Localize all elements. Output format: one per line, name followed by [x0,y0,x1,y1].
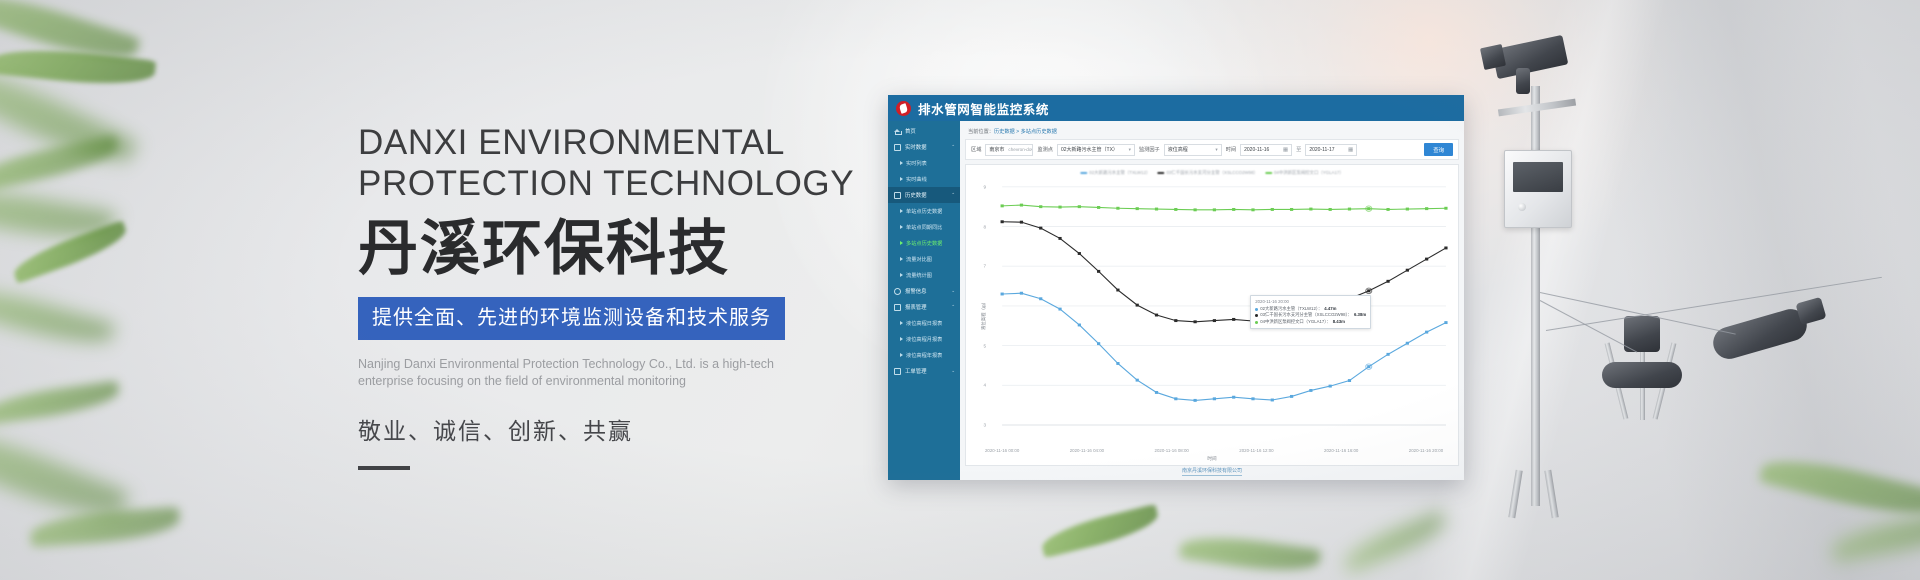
tooltip-series-dot [1255,321,1258,324]
cabinet-display-panel [1513,162,1563,192]
breadcrumb: 当前位置：历史数据 > 多站点历史数据 [965,125,1459,139]
chart-y-tick-label: 9 [976,184,986,189]
hero-chinese-title: 丹溪环保科技 [358,216,898,282]
hero-slogan-bar: 提供全面、先进的环境监测设备和技术服务 [358,297,785,340]
sidebar-item-flow-statistics-chart[interactable]: 流量统计图 [888,267,960,283]
leaf-decoration [0,380,121,425]
hero-chinese-slogan: 敬业、诚信、创新、共赢 [358,412,898,446]
sidebar-item-single-station-yoy[interactable]: 单站点同期同比 [888,219,960,235]
sidebar-item-label: 实时数据 [905,143,927,151]
chevron-down-icon: ⌄ [951,288,955,294]
sidebar-group-report-management[interactable]: 报表管理 ⌃ [888,299,960,315]
sidebar-item-label: 流量统计图 [906,272,932,279]
chart-y-tick-label: 5 [976,343,986,348]
sidebar-item-label: 报表管理 [905,303,927,311]
chart-y-tick-label: 8 [976,224,986,229]
region-value: 南京市 [989,146,1004,153]
hero-text-block: DANXI ENVIRONMENTAL PROTECTION TECHNOLOG… [358,122,898,470]
calendar-icon: ▦ [1279,147,1288,153]
leaf-decoration [29,507,181,547]
region-label: 区域 [971,146,981,153]
sidebar-item-realtime-curve[interactable]: 实时曲线 [888,171,960,187]
chart-x-axis-title: 时间 [1207,456,1216,462]
chart-tooltip: 2020-11-16 20:0002大新路污水主管（TXLW12）：4.47m0… [1250,295,1371,330]
tooltip-timestamp: 2020-11-16 20:00 [1255,299,1366,305]
sidebar-item-label: 历史数据 [905,191,927,199]
breadcrumb-path: 历史数据 > 多站点历史数据 [994,129,1057,135]
query-button[interactable]: 查询 [1424,143,1453,156]
bell-icon [894,288,901,295]
footer-company-name: 南京丹溪环保科技有限公司 [1182,468,1242,476]
tooltip-series-name: 04中洪新区泵阀控文口（YGLA17）： [1260,319,1330,325]
tooltip-row: 04中洪新区泵阀控文口（YGLA17）：8.43m [1255,319,1366,325]
sidebar-item-yearly-level-report[interactable]: 液位高程年报表 [888,347,960,363]
shield-logo-icon [896,101,911,116]
sidebar-item-multi-station-history[interactable]: 多站点历史数据 [888,235,960,251]
sensor-probe-body [1602,362,1682,388]
chart-x-tick-label: 2020-11-16 08:00 [1155,448,1189,453]
sidebar-item-realtime-list[interactable]: 实时列表 [888,155,960,171]
monitoring-factor-select[interactable]: 液位高程 ▾ [1164,144,1222,156]
point-label: 监测点 [1037,146,1053,153]
chevron-right-icon [900,209,903,213]
sidebar-item-label: 多站点历史数据 [906,240,942,247]
sidebar-item-label: 液位高程月报表 [906,336,942,343]
chevron-right-icon [900,273,903,277]
order-icon [894,368,901,375]
sidebar-item-label: 单站点同期同比 [906,224,942,231]
app-footer: 南京丹溪环保科技有限公司 [965,466,1459,480]
sidebar: 首页 实时数据 ⌃ 实时列表 实时曲线 历史数据 [888,121,960,480]
chevron-right-icon [900,241,903,245]
chart-y-tick-label: 3 [976,423,986,428]
sidebar-item-label: 报警信息 [905,287,927,295]
chart-x-tick-label: 2020-11-16 16:00 [1324,448,1358,453]
calendar-icon: ▦ [1344,147,1353,153]
chevron-down-icon: ▾ [1211,147,1217,153]
chevron-down-icon: chevron-down-icon [1004,147,1033,152]
tooltip-series-value: 8.43m [1333,319,1345,325]
hero-english-title-line2: PROTECTION TECHNOLOGY [358,163,898,204]
factor-value: 液位高程 [1168,146,1188,153]
breadcrumb-label: 当前位置： [968,129,994,135]
start-date-value: 2020-11-16 [1244,147,1269,153]
chart-icon [894,192,901,199]
app-header: 排水管网智能监控系统 [888,95,1464,121]
sidebar-group-realtime-data[interactable]: 实时数据 ⌃ [888,139,960,155]
hero-english-title-line1: DANXI ENVIRONMENTAL [358,122,898,163]
sidebar-item-label: 液位高程年报表 [906,352,942,359]
region-select[interactable]: 南京市 chevron-down-icon [985,144,1033,156]
report-icon [894,304,901,311]
sidebar-item-label: 流量对比图 [906,256,932,263]
sidebar-item-label: 液位高程日报表 [906,320,942,327]
chart-x-tick-label: 2020-11-16 12:00 [1239,448,1273,453]
sidebar-item-label: 工单管理 [905,367,927,375]
chevron-right-icon [900,353,903,357]
tooltip-series-dot [1255,308,1258,311]
hero-banner: DANXI ENVIRONMENTAL PROTECTION TECHNOLOG… [0,0,1920,580]
tooltip-series-dot [1255,314,1258,317]
sidebar-item-label: 首页 [905,127,916,135]
app-title: 排水管网智能监控系统 [918,99,1049,118]
hero-english-description: Nanjing Danxi Environmental Protection T… [358,356,828,390]
filter-toolbar: 区域 南京市 chevron-down-icon 监测点 02大新路污水主管（T… [965,139,1459,160]
chevron-right-icon [900,257,903,261]
chevron-right-icon [900,225,903,229]
start-date-input[interactable]: 2020-11-16 ▦ [1240,144,1292,156]
point-value: 02大新路污水主管（TX） [1061,146,1118,153]
chevron-up-icon: ⌃ [951,144,955,150]
leaf-decoration [0,277,116,355]
monitor-icon [894,144,901,151]
chart-plot-area: 液位高程（m） 9876543 2020-11-16 00:002020-11-… [966,165,1458,465]
camera-pole [1531,86,1540,506]
chart-y-tick-label: 4 [976,383,986,388]
end-date-value: 2020-11-17 [1309,147,1334,153]
sidebar-item-label: 实时列表 [906,160,927,167]
chart-y-tick-label: 6 [976,303,986,308]
leaf-decoration [1039,504,1162,558]
chevron-up-icon: ⌃ [951,304,955,310]
chart-card: 02大新路污水主管（TXLW12）03仁千国长污水支河分主管（XSLCCO2W9… [965,164,1459,466]
app-body: 首页 实时数据 ⌃ 实时列表 实时曲线 历史数据 [888,121,1464,480]
sidebar-group-alarm-info[interactable]: 报警信息 ⌄ [888,283,960,299]
monitoring-point-select[interactable]: 02大新路污水主管（TX） ▾ [1057,144,1135,156]
monitoring-system-screenshot: 排水管网智能监控系统 首页 实时数据 ⌃ 实时列表 [888,95,1464,480]
home-icon [894,128,901,135]
cabinet-indicator-light [1518,203,1526,211]
chevron-down-icon: ▾ [1125,147,1131,153]
sidebar-item-single-station-history[interactable]: 单站点历史数据 [888,203,960,219]
sidebar-group-work-order[interactable]: 工单管理 ⌄ [888,363,960,379]
chevron-right-icon [900,177,903,181]
sidebar-item-home[interactable]: 首页 [888,123,960,139]
chevron-right-icon [900,337,903,341]
sidebar-item-flow-comparison-chart[interactable]: 流量对比图 [888,251,960,267]
sidebar-item-label: 单站点历史数据 [906,208,942,215]
end-date-input[interactable]: 2020-11-17 ▦ [1305,144,1357,156]
tooltip-series-value: 6.38m [1354,312,1366,318]
camera-lens-hood [1480,44,1506,70]
footer-company-link[interactable]: 南京丹溪环保科技有限公司 [965,467,1459,474]
chevron-right-icon [900,161,903,165]
sidebar-item-daily-level-report[interactable]: 液位高程日报表 [888,315,960,331]
chevron-down-icon: ⌄ [951,368,955,374]
chart-svg [966,165,1458,465]
date-separator: 至 [1296,146,1301,153]
chart-x-tick-label: 2020-11-16 00:00 [985,448,1019,453]
time-label: 时间 [1226,146,1236,153]
chart-y-tick-label: 7 [976,264,986,269]
camera-mount-bracket [1516,68,1530,94]
sidebar-item-label: 实时曲线 [906,176,927,183]
sidebar-group-history-data[interactable]: 历史数据 ⌃ [888,187,960,203]
sidebar-item-monthly-level-report[interactable]: 液位高程月报表 [888,331,960,347]
hero-divider-rule [358,466,410,470]
chevron-right-icon [900,321,903,325]
main-content: 当前位置：历史数据 > 多站点历史数据 区域 南京市 chevron-down-… [960,121,1464,480]
chart-x-tick-label: 2020-11-16 20:00 [1409,448,1443,453]
chevron-up-icon: ⌃ [951,192,955,198]
factor-label: 监测因子 [1139,146,1160,153]
chart-x-tick-label: 2020-11-16 04:00 [1070,448,1104,453]
